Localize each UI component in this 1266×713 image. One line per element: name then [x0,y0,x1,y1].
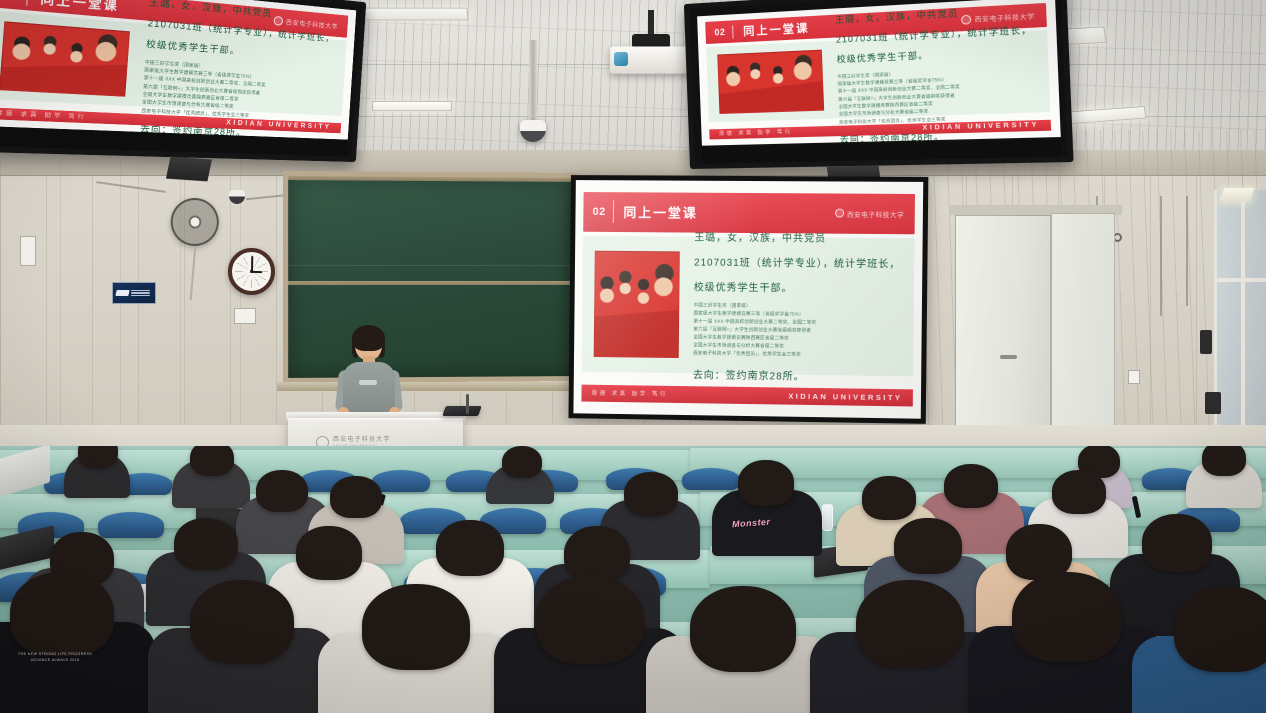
presenter-torso [343,362,395,415]
jacket-print-line2: ADVANCE ALWAYS 2016 [31,658,80,662]
student-head [894,518,962,574]
slide-footer-motto: 厚德 求真 励学 笃行 [592,389,668,398]
student-head [564,526,630,582]
right-window [1214,190,1266,460]
student-head [1052,470,1106,514]
student-head [856,580,964,668]
student-head [502,446,542,478]
tv-display-left[interactable]: 02 同上一堂课 西安电子科技大学 王璐，女，汉族，中共党员 2107031班（… [0,0,366,162]
student-head [296,526,362,580]
student-head [190,446,234,476]
presenter-hair [352,325,385,351]
tv-left-mount [166,157,212,182]
student-head [330,476,382,518]
student-head [174,518,238,570]
seat[interactable] [682,468,740,490]
slide-detail: 西安电子科技大学「优秀团员」、优秀学生会三等奖 [693,349,900,360]
slide-header: 02 同上一堂课 西安电子科技大学 [584,192,915,234]
tv-left-bezel [0,0,366,162]
wall-panel-device[interactable] [1200,330,1212,354]
slide-footer: 厚德 求真 励学 笃行 XIDIAN UNIVERSITY [582,384,913,406]
slide-footer-english: XIDIAN UNIVERSITY [788,392,902,403]
slide-photo [594,251,680,358]
wall-panel-device[interactable] [1205,392,1221,414]
presenter-shirt-logo [359,380,377,385]
projector-lens-icon [614,52,628,66]
jacket-print-line1: THE NEW STRONG LIFE PROGRESS [18,652,92,656]
water-bottle[interactable] [822,504,833,531]
slide-projected: 02 同上一堂课 西安电子科技大学 王璐，女，汉族，中共党员 2107031班（… [573,180,923,419]
slide-text-block: 王璐，女，汉族，中共党员 2107031班（统计学专业），统计学班长， 校级优秀… [678,228,914,384]
slide-section-number: 02 [584,206,613,218]
classroom-scene: 02 同上一堂课 西安电子科技大学 王璐，女，汉族，中共党员 2107031班（… [0,0,1266,713]
wall-clock [228,248,275,295]
wall-outlet-box[interactable] [234,308,256,324]
slide-line: 校级优秀学生干部。 [694,278,901,295]
slide-line: 2107031班（统计学专业），统计学班长， [694,253,901,270]
ceiling-light [372,101,453,111]
student-head [362,584,470,670]
lectern-laptop[interactable] [442,406,482,416]
audience-seating-area: Monster THE NEW STRONG LIFE PROGRESS [0,446,1266,713]
student-head [862,476,916,520]
student-head [78,446,118,468]
jacket-print-text: THE NEW STRONG LIFE PROGRESS ADVANCE ALW… [18,652,92,664]
slide-title: 同上一堂课 [613,202,697,221]
camera-pole [529,40,537,122]
tv-right-bezel [684,0,1074,169]
student-head [690,586,796,672]
lectern-logo-cn: 西安电子科技大学 [333,437,391,445]
clock-center-pin [250,270,253,273]
projection-surface: 02 同上一堂课 西安电子科技大学 王璐，女，汉族，中共党员 2107031班（… [573,180,923,419]
student-head [256,470,308,512]
student-head [10,572,114,656]
left-wall-box [20,236,36,266]
university-logo: 西安电子科技大学 [835,208,915,219]
clock-hour-hand [251,270,262,273]
wall-fan-icon [171,198,219,247]
lectern-microphone-icon[interactable] [466,394,469,414]
student-head [944,464,998,508]
surveillance-sign [112,282,156,304]
seat[interactable] [98,512,164,538]
blackboard [283,171,578,383]
side-wall-light [1220,188,1255,202]
wall-junction-box [1128,370,1140,384]
student-head [536,576,644,664]
university-logo-text: 西安电子科技大学 [847,208,904,218]
student-head [436,520,504,576]
student-head [1142,514,1212,572]
student-head [1012,572,1122,662]
slide-outcome: 去向：签约南京28所。 [693,366,900,384]
projection-screen[interactable]: 02 同上一堂课 西安电子科技大学 王璐，女，汉族，中共党员 2107031班（… [568,175,928,424]
slide-body: 王璐，女，汉族，中共党员 2107031班（统计学专业），统计学班长， 校级优秀… [582,236,914,376]
ceiling-light [363,8,468,21]
seat[interactable] [372,470,430,492]
university-seal-icon [835,209,844,218]
cctv-camera-icon [115,290,129,296]
student-head [624,472,678,516]
student-head [1174,586,1266,672]
door-handle[interactable] [1000,355,1017,359]
tv-display-right[interactable]: 02 同上一堂课 西安电子科技大学 王璐，女，汉族，中共党员 2107031班（… [684,0,1074,169]
student-head [1202,446,1246,476]
student-head [738,460,794,506]
student-head [190,580,294,664]
chalk-tray [277,382,584,391]
surveillance-sign-text [131,290,150,297]
slide-line: 王璐，女，汉族，中共党员 [694,229,901,246]
